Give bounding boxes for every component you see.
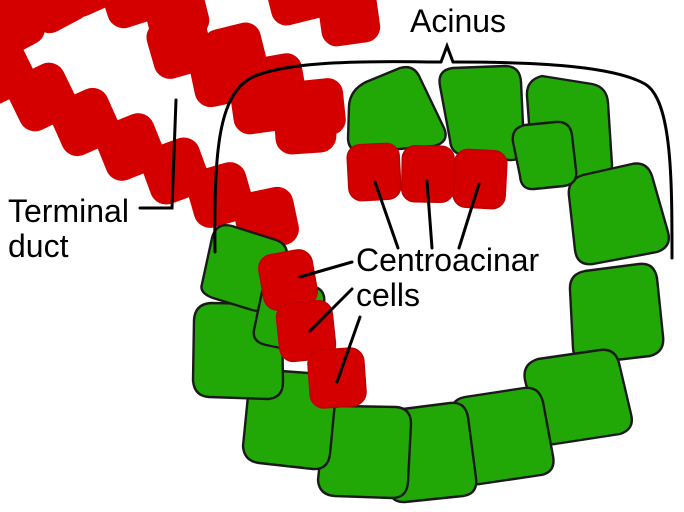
duct-cell bbox=[283, 77, 347, 139]
acinar-cell bbox=[348, 67, 446, 152]
brace-tick bbox=[441, 46, 453, 62]
label-acinus-text: Acinus bbox=[410, 3, 506, 39]
label-centroacinar-line2: cells bbox=[356, 278, 539, 313]
label-centroacinar-line1: Centroacinar bbox=[356, 243, 539, 278]
label-terminal-duct: Terminalduct bbox=[8, 194, 129, 263]
label-terminal-duct-line2: duct bbox=[8, 229, 129, 264]
centroacinar-cell bbox=[453, 149, 508, 210]
diagram-canvas: Acinus Terminalduct Centroacinarcells bbox=[0, 0, 684, 512]
acinar-cell bbox=[513, 122, 577, 189]
centroacinar-cell bbox=[347, 143, 402, 202]
label-terminal-duct-line1: Terminal bbox=[8, 194, 129, 229]
label-centroacinar-cells: Centroacinarcells bbox=[356, 243, 539, 312]
acinar-cell bbox=[570, 264, 663, 363]
acinar-cell bbox=[569, 164, 669, 265]
acinar-cell bbox=[440, 66, 524, 160]
label-acinus: Acinus bbox=[410, 4, 506, 39]
